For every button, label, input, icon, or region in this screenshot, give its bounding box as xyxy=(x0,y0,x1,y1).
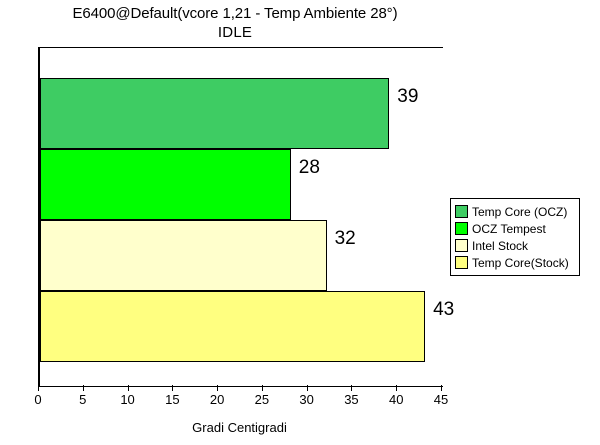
legend-item-label: Temp Core(Stock) xyxy=(472,256,569,270)
x-axis-tick-label: 40 xyxy=(389,392,403,407)
bar-row: 28 xyxy=(40,149,443,220)
x-axis: 051015202530354045 xyxy=(38,385,441,393)
bar-value-label: 43 xyxy=(433,299,454,321)
x-axis-tick-label: 25 xyxy=(255,392,269,407)
x-axis-tick xyxy=(83,385,84,391)
x-axis-tick-label: 30 xyxy=(299,392,313,407)
chart-title-block: E6400@Default(vcore 1,21 - Temp Ambiente… xyxy=(0,4,470,42)
legend-item-label: Temp Core (OCZ) xyxy=(472,205,567,219)
x-axis-tick xyxy=(441,385,442,391)
bar-value-label: 39 xyxy=(397,86,418,108)
legend-swatch-icon xyxy=(455,222,468,235)
bar-intel-stock xyxy=(40,220,327,291)
x-axis-tick-label: 15 xyxy=(165,392,179,407)
x-axis-tick-label: 10 xyxy=(120,392,134,407)
chart-subtitle: IDLE xyxy=(0,23,470,42)
x-axis-title: Gradi Centigradi xyxy=(38,420,441,436)
bar-value-label: 28 xyxy=(299,157,320,179)
legend-item: Temp Core(Stock) xyxy=(455,254,576,271)
x-axis-tick xyxy=(38,385,39,391)
x-axis-tick-label: 20 xyxy=(210,392,224,407)
bar-row: 43 xyxy=(40,291,443,362)
x-axis-tick xyxy=(307,385,308,391)
x-axis-tick xyxy=(262,385,263,391)
legend-item-label: OCZ Tempest xyxy=(472,222,546,236)
bar-temp-core-ocz xyxy=(40,78,389,149)
x-axis-tick-label: 45 xyxy=(434,392,448,407)
bar-temp-core-stock xyxy=(40,291,425,362)
legend-item: Temp Core (OCZ) xyxy=(455,203,576,220)
x-axis-tick xyxy=(351,385,352,391)
x-axis-tick xyxy=(172,385,173,391)
bar-ocz-tempest xyxy=(40,149,291,220)
bar-row: 32 xyxy=(40,220,443,291)
x-axis-tick-label: 35 xyxy=(344,392,358,407)
legend-swatch-icon xyxy=(455,205,468,218)
x-axis-tick-label: 0 xyxy=(34,392,41,407)
legend-swatch-icon xyxy=(455,256,468,269)
x-axis-tick-label: 5 xyxy=(79,392,86,407)
legend-item: Intel Stock xyxy=(455,237,576,254)
legend: Temp Core (OCZ) OCZ Tempest Intel Stock … xyxy=(450,198,580,276)
page-title: E6400@Default(vcore 1,21 - Temp Ambiente… xyxy=(0,4,470,23)
bar-value-label: 32 xyxy=(335,228,356,250)
x-axis-tick xyxy=(396,385,397,391)
x-axis-tick xyxy=(128,385,129,391)
legend-item-label: Intel Stock xyxy=(472,239,528,253)
plot-area: 39 28 32 43 xyxy=(38,47,443,387)
x-axis-tick xyxy=(217,385,218,391)
bar-row: 39 xyxy=(40,78,443,149)
legend-item: OCZ Tempest xyxy=(455,220,576,237)
legend-swatch-icon xyxy=(455,239,468,252)
